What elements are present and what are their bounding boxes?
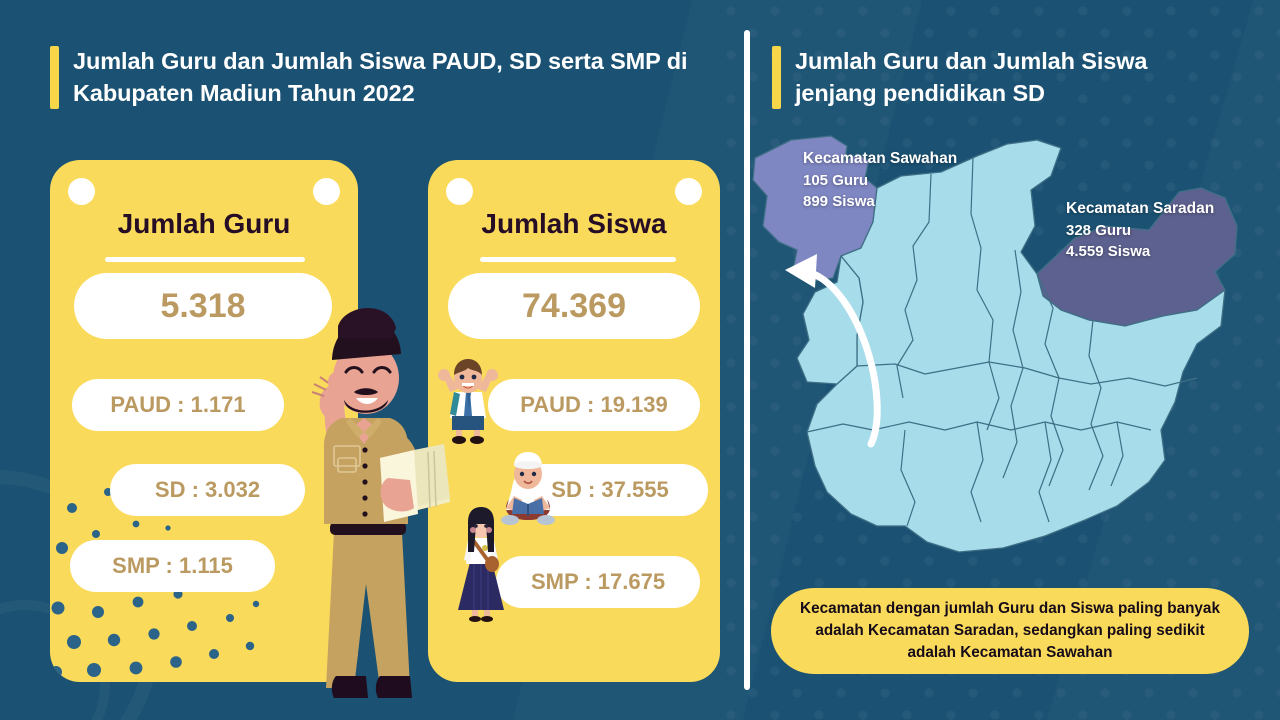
right-panel: Jumlah Guru dan Jumlah Siswa jenjang pen…: [745, 0, 1280, 720]
card-guru-total-value: 5.318: [160, 287, 245, 326]
left-panel: Jumlah Guru dan Jumlah Siswa PAUD, SD se…: [0, 0, 745, 720]
summary-note-box: Kecamatan dengan jumlah Guru dan Siswa p…: [771, 588, 1249, 674]
card-guru-row-smp-label: SMP : 1.115: [112, 553, 233, 579]
map-label-saradan-teachers: 328 Guru: [1066, 220, 1214, 241]
madiun-map: Kecamatan Sawahan 105 Guru 899 Siswa Kec…: [745, 130, 1280, 560]
card2-pin-right: [675, 178, 702, 205]
card-siswa-row-paud-label: PAUD : 19.139: [520, 392, 668, 418]
card-pin-right: [313, 178, 340, 205]
student-boy-cheering-illustration: [432, 358, 504, 444]
left-accent-bar: [50, 46, 59, 109]
card-guru-row-paud: PAUD : 1.171: [72, 379, 284, 431]
map-label-saradan-name: Kecamatan Saradan: [1066, 198, 1214, 220]
map-label-sawahan-name: Kecamatan Sawahan: [803, 148, 957, 170]
card-guru-row-paud-label: PAUD : 1.171: [110, 392, 245, 418]
card-pin-left: [68, 178, 95, 205]
card-siswa-rule: [480, 257, 676, 262]
card-guru-title: Jumlah Guru: [50, 208, 358, 240]
student-girl-illustration: [450, 506, 512, 622]
right-headline-row: Jumlah Guru dan Jumlah Siswa jenjang pen…: [772, 46, 1222, 109]
card-guru-rule: [105, 257, 305, 262]
card-siswa-total-value: 74.369: [522, 287, 626, 326]
map-label-sawahan: Kecamatan Sawahan 105 Guru 899 Siswa: [803, 148, 957, 213]
map-label-sawahan-students: 899 Siswa: [803, 191, 957, 212]
card-siswa-title: Jumlah Siswa: [428, 208, 720, 240]
map-label-sawahan-teachers: 105 Guru: [803, 170, 957, 191]
card2-pin-left: [446, 178, 473, 205]
card-siswa-row-sd-label: SD : 37.555: [551, 477, 668, 503]
right-headline: Jumlah Guru dan Jumlah Siswa jenjang pen…: [795, 46, 1222, 109]
left-headline: Jumlah Guru dan Jumlah Siswa PAUD, SD se…: [73, 46, 710, 109]
card-guru-row-smp: SMP : 1.115: [70, 540, 275, 592]
card-siswa-total-pill: 74.369: [448, 273, 700, 339]
right-accent-bar: [772, 46, 781, 109]
summary-note-text: Kecamatan dengan jumlah Guru dan Siswa p…: [789, 598, 1231, 665]
map-label-saradan-students: 4.559 Siswa: [1066, 241, 1214, 262]
left-headline-row: Jumlah Guru dan Jumlah Siswa PAUD, SD se…: [50, 46, 710, 109]
card-guru-row-sd-label: SD : 3.032: [155, 477, 260, 503]
card-siswa-row-paud: PAUD : 19.139: [488, 379, 700, 431]
card-siswa-row-smp-label: SMP : 17.675: [531, 569, 665, 595]
card-siswa-row-smp: SMP : 17.675: [496, 556, 700, 608]
map-label-saradan: Kecamatan Saradan 328 Guru 4.559 Siswa: [1066, 198, 1214, 263]
